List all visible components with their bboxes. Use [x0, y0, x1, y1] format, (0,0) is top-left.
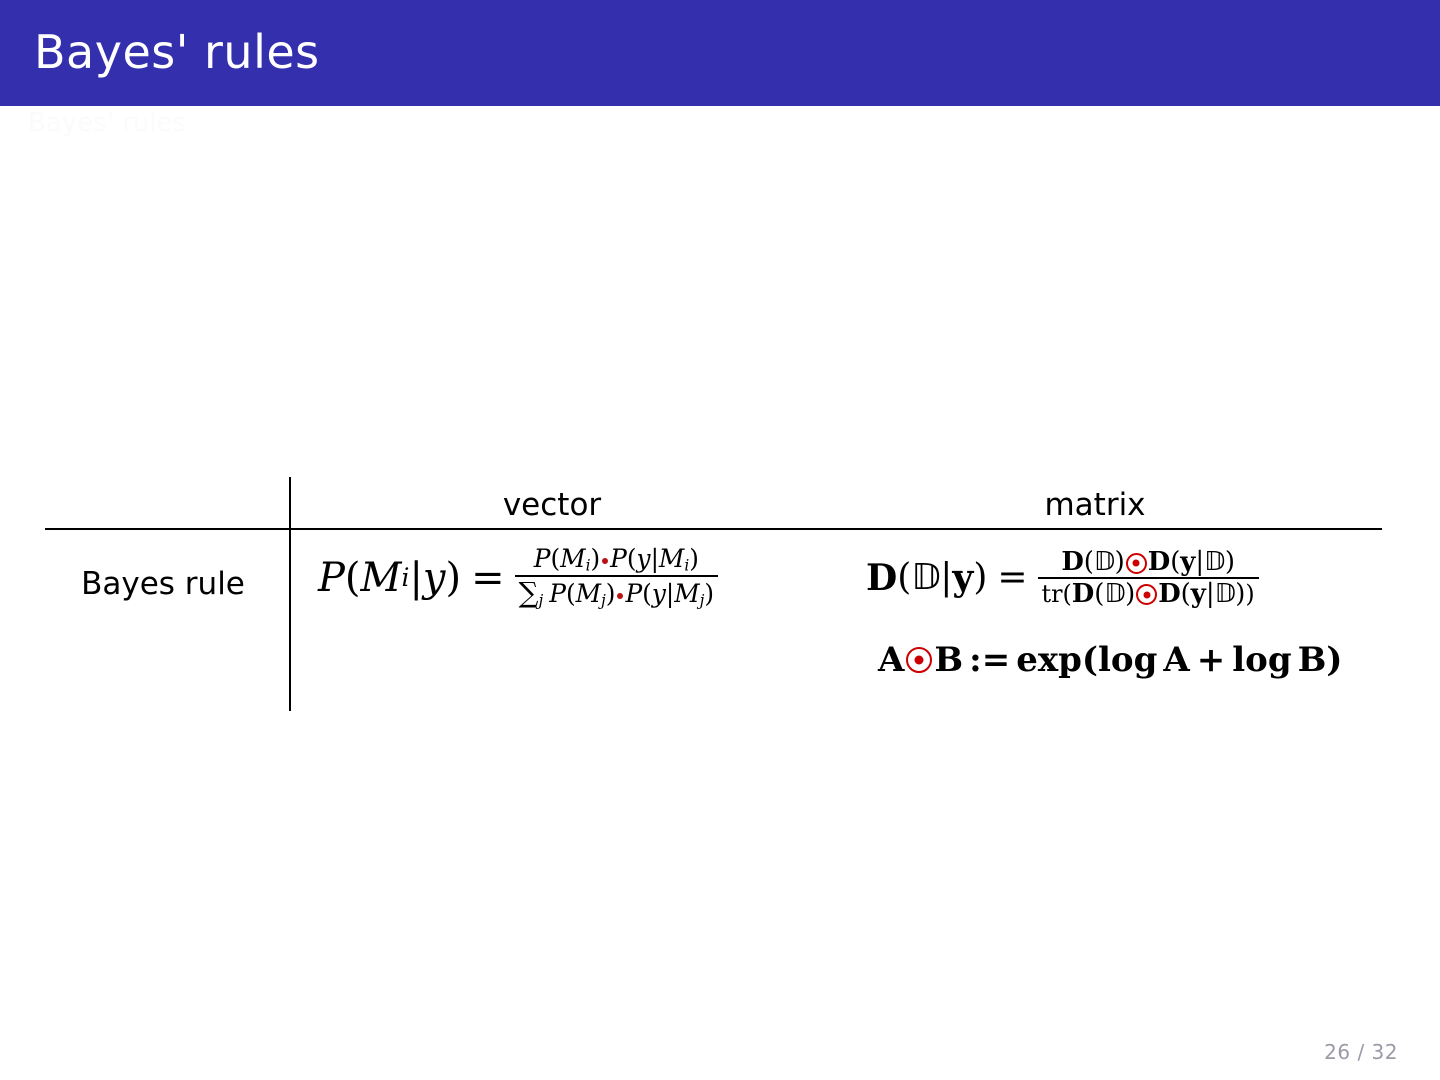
- equation-matrix-bayes-rule: D(𝔻|y) = D(𝔻)D(y|𝔻) tr(D(𝔻)D(y|𝔻)): [866, 548, 1259, 608]
- column-header-vector: vector: [330, 486, 774, 524]
- page-number: 26 / 32: [1324, 1040, 1398, 1064]
- table-column-divider: [289, 477, 291, 711]
- odot-operator-icon: [906, 647, 932, 673]
- matrix-bayes-fraction: D(𝔻)D(y|𝔻) tr(D(𝔻)D(y|𝔻)): [1038, 548, 1259, 608]
- slide-title-bar: Bayes' rules: [0, 0, 1440, 106]
- title-ghost-overlay: Bayes' rules: [28, 108, 186, 138]
- column-header-matrix: matrix: [880, 486, 1310, 524]
- odot-operator-icon: [1136, 584, 1157, 605]
- table-header-rule: [45, 528, 1382, 530]
- vector-bayes-fraction: P(Mi)P(y|Mi) ∑jP(Mj)P(y|Mj): [515, 546, 718, 610]
- page-title: Bayes' rules: [34, 24, 320, 80]
- row-label-bayes-rule: Bayes rule: [45, 564, 281, 604]
- equation-odot-definition: AB := exp(logA+logB): [878, 640, 1342, 680]
- equation-vector-bayes-rule: P(Mi|y) = P(Mi)P(y|Mi) ∑jP(Mj)P(y|Mj): [318, 546, 718, 610]
- odot-operator-icon: [1126, 553, 1147, 574]
